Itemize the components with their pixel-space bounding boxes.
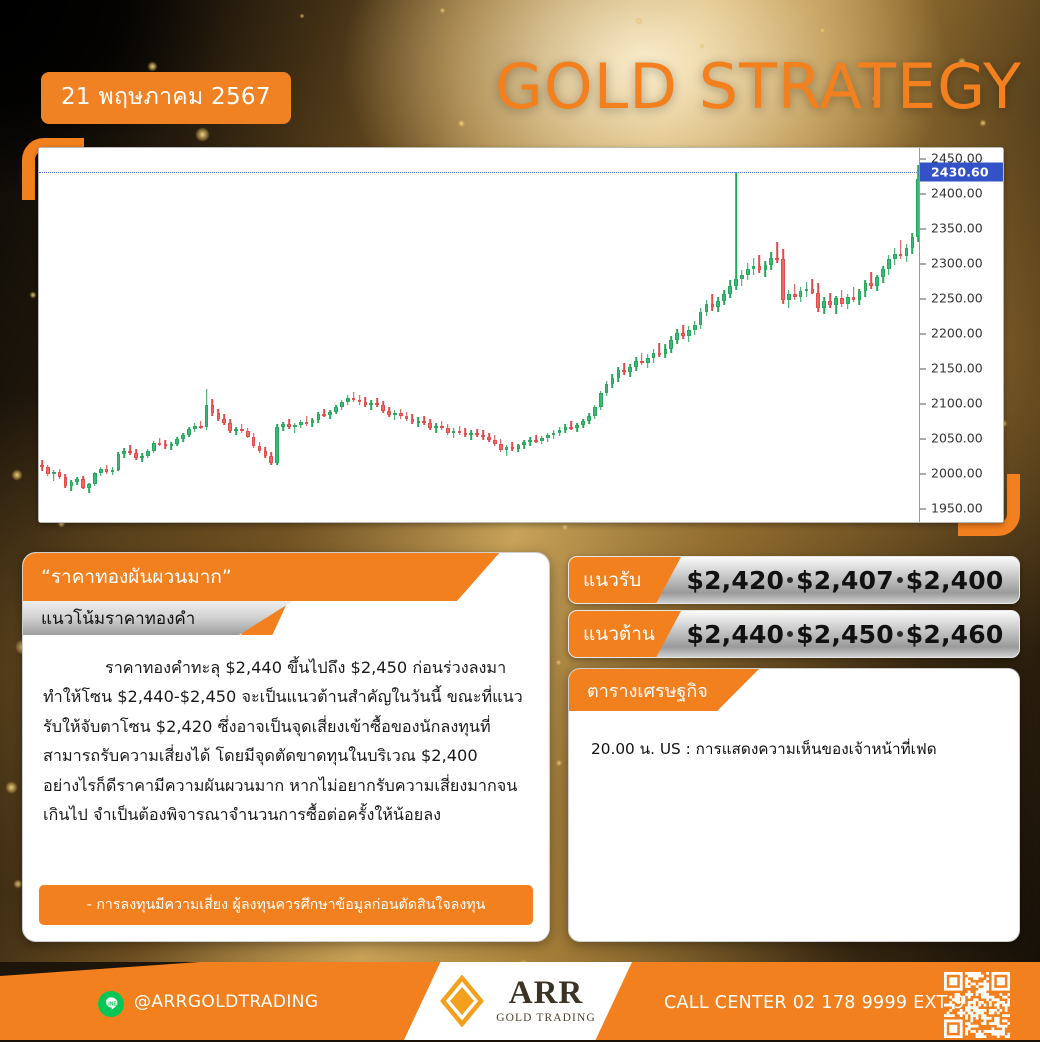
candlestick	[252, 148, 256, 522]
candle-body	[558, 430, 562, 433]
candle-body	[522, 442, 526, 445]
candle-wick	[470, 430, 472, 440]
candlestick	[81, 148, 85, 522]
candle-body	[822, 301, 826, 308]
candlestick	[564, 148, 568, 522]
candlestick	[211, 148, 215, 522]
candlestick	[146, 148, 150, 522]
candlestick	[705, 148, 709, 522]
candle-body	[340, 402, 344, 406]
candlestick	[493, 148, 497, 522]
candlestick	[375, 148, 379, 522]
candle-body	[158, 443, 162, 445]
candlestick	[181, 148, 185, 522]
candlestick	[269, 148, 273, 522]
candlestick	[593, 148, 597, 522]
candlestick	[869, 148, 873, 522]
support-value-2: $2,407	[796, 566, 894, 595]
candle-body	[628, 367, 632, 373]
candle-body	[369, 403, 373, 405]
candlestick	[711, 148, 715, 522]
candlestick	[199, 148, 203, 522]
candle-body	[499, 444, 503, 450]
candle-body	[199, 426, 203, 428]
candle-body	[105, 469, 109, 472]
separator-dot-icon	[897, 577, 903, 583]
candle-body	[587, 416, 591, 422]
candlestick	[681, 148, 685, 522]
candle-body	[816, 293, 820, 308]
candlestick	[434, 148, 438, 522]
candle-body	[458, 431, 462, 433]
candle-body	[793, 294, 797, 297]
analysis-subhead-wrap: แนวโน้มราคาทองคำ	[23, 601, 549, 635]
candle-body	[469, 433, 473, 435]
candlestick	[40, 148, 44, 522]
candle-body	[905, 248, 909, 256]
candlestick	[422, 148, 426, 522]
candle-body	[828, 301, 832, 305]
candle-body	[111, 470, 115, 472]
candle-body	[852, 297, 856, 300]
candlestick	[675, 148, 679, 522]
candlestick	[117, 148, 121, 522]
candle-body	[646, 358, 650, 362]
candle-body	[64, 477, 68, 486]
candle-body	[840, 298, 844, 304]
candlestick	[799, 148, 803, 522]
candle-body	[375, 403, 379, 405]
candle-wick	[794, 284, 796, 299]
candle-body	[411, 419, 415, 422]
candle-body	[381, 405, 385, 411]
candlestick	[75, 148, 79, 522]
candlestick	[311, 148, 315, 522]
price-tick: 2000.00	[920, 466, 1003, 481]
candle-body	[569, 427, 573, 429]
candle-body	[693, 325, 697, 331]
candle-wick	[641, 353, 643, 366]
candlestick	[234, 148, 238, 522]
candle-wick	[900, 240, 902, 260]
candlestick	[70, 148, 74, 522]
candlestick	[499, 148, 503, 522]
candle-body	[622, 370, 626, 373]
separator-dot-icon	[787, 631, 793, 637]
candlestick	[640, 148, 644, 522]
candle-body	[617, 370, 621, 378]
candlestick	[328, 148, 332, 522]
candlestick	[505, 148, 509, 522]
support-values: $2,420 $2,407 $2,400	[681, 566, 1019, 595]
candle-body	[352, 398, 356, 400]
candle-wick	[394, 410, 396, 420]
candle-body	[299, 422, 303, 425]
candle-body	[699, 312, 703, 325]
candle-body	[687, 330, 691, 336]
candle-body	[228, 423, 232, 431]
candle-body	[264, 451, 268, 455]
line-icon[interactable]: LINE	[98, 991, 124, 1017]
candle-body	[787, 294, 791, 300]
candlestick	[652, 148, 656, 522]
candlestick	[58, 148, 62, 522]
candle-body	[87, 484, 91, 487]
qr-code-svg	[944, 972, 1010, 1038]
candlestick	[93, 148, 97, 522]
separator-dot-icon	[897, 631, 903, 637]
candlestick	[287, 148, 291, 522]
candle-body	[834, 298, 838, 305]
candle-body	[652, 353, 656, 359]
candlestick	[164, 148, 168, 522]
candle-body	[205, 405, 209, 427]
candle-wick	[870, 272, 872, 289]
candlestick	[734, 148, 738, 522]
resistance-label: แนวต้าน	[569, 611, 681, 657]
candle-body	[511, 447, 515, 449]
candlestick	[405, 148, 409, 522]
candle-body	[317, 414, 321, 420]
candle-body	[752, 266, 756, 269]
candle-body	[811, 289, 815, 293]
candlestick	[822, 148, 826, 522]
candlestick	[828, 148, 832, 522]
candlestick	[699, 148, 703, 522]
candle-body	[93, 473, 97, 484]
candlestick	[264, 148, 268, 522]
candle-body	[175, 439, 179, 444]
candle-body	[869, 283, 873, 286]
candlestick	[317, 148, 321, 522]
candle-wick	[435, 423, 437, 433]
candlestick	[222, 148, 226, 522]
candlestick	[469, 148, 473, 522]
candlestick	[787, 148, 791, 522]
candlestick	[217, 148, 221, 522]
candlestick	[646, 148, 650, 522]
candle-body	[222, 419, 226, 423]
candlestick	[775, 148, 779, 522]
candle-body	[187, 429, 191, 435]
candlestick	[187, 148, 191, 522]
candle-body	[417, 421, 421, 423]
price-tick: 1950.00	[920, 501, 1003, 516]
diamond-logo-icon	[436, 975, 488, 1027]
candlestick	[522, 148, 526, 522]
candle-wick	[682, 325, 684, 339]
candle-body	[881, 269, 885, 277]
candle-wick	[453, 428, 455, 438]
candle-wick	[306, 416, 308, 426]
candlestick	[846, 148, 850, 522]
candle-body	[358, 400, 362, 402]
candle-body	[846, 297, 850, 304]
candle-body	[775, 258, 779, 260]
candle-wick	[129, 445, 131, 455]
candle-body	[287, 424, 291, 427]
price-tick: 2350.00	[920, 221, 1003, 236]
candlestick	[893, 148, 897, 522]
candle-body	[611, 378, 615, 384]
candle-body	[70, 482, 74, 486]
candlestick	[558, 148, 562, 522]
candlestick	[258, 148, 262, 522]
candlestick	[805, 148, 809, 522]
resistance-value-1: $2,440	[686, 620, 784, 649]
candle-wick	[759, 255, 761, 273]
candle-wick	[323, 409, 325, 417]
support-label: แนวรับ	[569, 557, 681, 603]
candle-body	[58, 472, 62, 477]
candle-wick	[735, 172, 737, 289]
candle-body	[240, 429, 244, 431]
candlestick	[458, 148, 462, 522]
candle-body	[293, 425, 297, 427]
candle-body	[305, 422, 309, 424]
candle-body	[634, 361, 638, 367]
candle-body	[46, 467, 50, 473]
candle-body	[475, 433, 479, 435]
price-tick: 2200.00	[920, 326, 1003, 341]
candlestick	[428, 148, 432, 522]
candle-body	[740, 275, 744, 279]
candle-body	[534, 440, 538, 442]
analysis-headline: “ราคาทองผันผวนมาก”	[23, 553, 549, 601]
candlestick	[140, 148, 144, 522]
candlestick	[64, 148, 68, 522]
candle-body	[346, 398, 350, 403]
candlestick	[417, 148, 421, 522]
candle-body	[217, 413, 221, 419]
candlestick	[740, 148, 744, 522]
candle-body	[734, 279, 738, 286]
candle-body	[75, 479, 79, 482]
candlestick	[487, 148, 491, 522]
candlestick	[611, 148, 615, 522]
candlestick	[581, 148, 585, 522]
line-id-label: @ARRGOLDTRADING	[134, 992, 319, 1012]
candlestick	[764, 148, 768, 522]
support-value-1: $2,420	[686, 566, 784, 595]
candlestick	[687, 148, 691, 522]
candlestick	[881, 148, 885, 522]
candlestick	[605, 148, 609, 522]
resistance-value-3: $2,460	[906, 620, 1004, 649]
candle-body	[746, 269, 750, 275]
qr-code	[944, 972, 1010, 1038]
risk-disclaimer: - การลงทุนมีความเสี่ยง ผู้ลงทุนควรศึกษาข…	[39, 885, 533, 925]
candle-body	[887, 259, 891, 269]
current-price-line	[39, 172, 919, 173]
candle-body	[528, 440, 532, 443]
candle-body	[122, 451, 126, 454]
candle-body	[258, 446, 262, 452]
candlestick	[728, 148, 732, 522]
price-axis: 2450.002400.002350.002300.002250.002200.…	[919, 148, 1003, 522]
candlestick	[858, 148, 862, 522]
price-tick: 2050.00	[920, 431, 1003, 446]
candle-body	[728, 286, 732, 294]
chart-frame: 2450.002400.002350.002300.002250.002200.…	[38, 147, 1004, 523]
candlestick	[911, 148, 915, 522]
candlestick	[781, 148, 785, 522]
candlestick	[540, 148, 544, 522]
candle-wick	[371, 400, 373, 410]
candle-body	[505, 447, 509, 450]
candle-body	[546, 435, 550, 438]
candlestick	[475, 148, 479, 522]
support-value-3: $2,400	[906, 566, 1004, 595]
candle-body	[711, 304, 715, 307]
candle-body	[805, 289, 809, 292]
candle-body	[658, 353, 662, 355]
candle-body	[599, 393, 603, 407]
price-tick: 2400.00	[920, 186, 1003, 201]
candle-body	[364, 402, 368, 405]
candlestick	[46, 148, 50, 522]
calendar-row: 20.00 น. US : การแสดงความเห็นของเจ้าหน้า…	[569, 711, 1019, 761]
candle-body	[605, 384, 609, 394]
candle-body	[405, 416, 409, 419]
candlestick	[281, 148, 285, 522]
candle-body	[899, 254, 903, 257]
candle-body	[564, 427, 568, 430]
candlestick	[393, 148, 397, 522]
candle-body	[764, 265, 768, 271]
candle-body	[134, 453, 138, 458]
candlestick	[369, 148, 373, 522]
candle-wick	[570, 421, 572, 430]
candle-body	[858, 291, 862, 299]
candlestick	[840, 148, 844, 522]
candle-body	[428, 423, 432, 428]
candle-body	[481, 435, 485, 438]
candle-body	[440, 426, 444, 429]
candle-body	[234, 429, 238, 431]
resistance-levels-row: แนวต้าน $2,440 $2,450 $2,460	[568, 610, 1020, 658]
candlestick	[240, 148, 244, 522]
candle-body	[399, 413, 403, 416]
candlestick	[87, 148, 91, 522]
candlestick	[411, 148, 415, 522]
candle-body	[669, 340, 673, 348]
candle-wick	[776, 242, 778, 263]
candle-body	[452, 431, 456, 433]
candle-body	[875, 277, 879, 285]
candlestick	[305, 148, 309, 522]
candlestick	[346, 148, 350, 522]
candlestick	[528, 148, 532, 522]
candlestick	[452, 148, 456, 522]
candlestick	[852, 148, 856, 522]
candlestick	[546, 148, 550, 522]
candlestick	[864, 148, 868, 522]
candle-wick	[659, 343, 661, 357]
candle-wick	[535, 435, 537, 443]
candle-body	[422, 421, 426, 423]
candlestick	[440, 148, 444, 522]
candle-body	[540, 438, 544, 441]
candlestick	[834, 148, 838, 522]
candlestick	[658, 148, 662, 522]
current-price-badge: 2430.60	[920, 163, 1003, 182]
candle-wick	[712, 294, 714, 311]
candlestick	[99, 148, 103, 522]
candle-body	[493, 440, 497, 443]
candlestick-plot[interactable]	[39, 148, 919, 522]
candlestick	[111, 148, 115, 522]
candle-body	[716, 301, 720, 307]
candle-body	[387, 411, 391, 415]
candlestick	[205, 148, 209, 522]
candlestick	[587, 148, 591, 522]
candle-body	[758, 266, 762, 270]
candlestick	[446, 148, 450, 522]
candlestick	[381, 148, 385, 522]
candlestick	[746, 148, 750, 522]
candlestick	[334, 148, 338, 522]
candlestick	[617, 148, 621, 522]
candlestick	[716, 148, 720, 522]
candlestick	[246, 148, 250, 522]
candle-body	[705, 304, 709, 312]
brand-logo: ARR GOLD TRADING	[404, 962, 632, 1040]
resistance-values: $2,440 $2,450 $2,460	[681, 620, 1019, 649]
candlestick	[887, 148, 891, 522]
candle-body	[246, 431, 250, 437]
candlestick	[105, 148, 109, 522]
date-badge: 21 พฤษภาคม 2567	[41, 72, 291, 124]
candlestick	[511, 148, 515, 522]
candle-wick	[353, 392, 355, 402]
resistance-value-2: $2,450	[796, 620, 894, 649]
candle-wick	[141, 453, 143, 461]
candlestick	[899, 148, 903, 522]
candle-body	[99, 469, 103, 473]
line-glyph-icon: LINE	[102, 995, 120, 1013]
candle-body	[464, 433, 468, 436]
candlestick	[387, 148, 391, 522]
svg-text:LINE: LINE	[105, 1001, 117, 1007]
candle-body	[434, 426, 438, 428]
candlestick	[299, 148, 303, 522]
candle-body	[675, 333, 679, 340]
candle-body	[393, 413, 397, 415]
candlestick	[52, 148, 56, 522]
candle-body	[593, 407, 597, 415]
candlestick	[752, 148, 756, 522]
calendar-title: ตารางเศรษฐกิจ	[569, 669, 759, 711]
candle-body	[146, 451, 150, 455]
candle-body	[211, 405, 215, 413]
candle-body	[252, 437, 256, 446]
economic-calendar-panel: ตารางเศรษฐกิจ 20.00 น. US : การแสดงความเ…	[568, 668, 1020, 942]
candlestick	[758, 148, 762, 522]
candlestick	[128, 148, 132, 522]
candlestick	[340, 148, 344, 522]
candlestick	[575, 148, 579, 522]
candle-body	[893, 254, 897, 260]
candlestick	[464, 148, 468, 522]
candlestick	[481, 148, 485, 522]
candlestick	[634, 148, 638, 522]
candle-body	[681, 333, 685, 336]
candlestick	[517, 148, 521, 522]
candle-body	[193, 426, 197, 429]
candle-body	[640, 361, 644, 363]
candlestick	[534, 148, 538, 522]
